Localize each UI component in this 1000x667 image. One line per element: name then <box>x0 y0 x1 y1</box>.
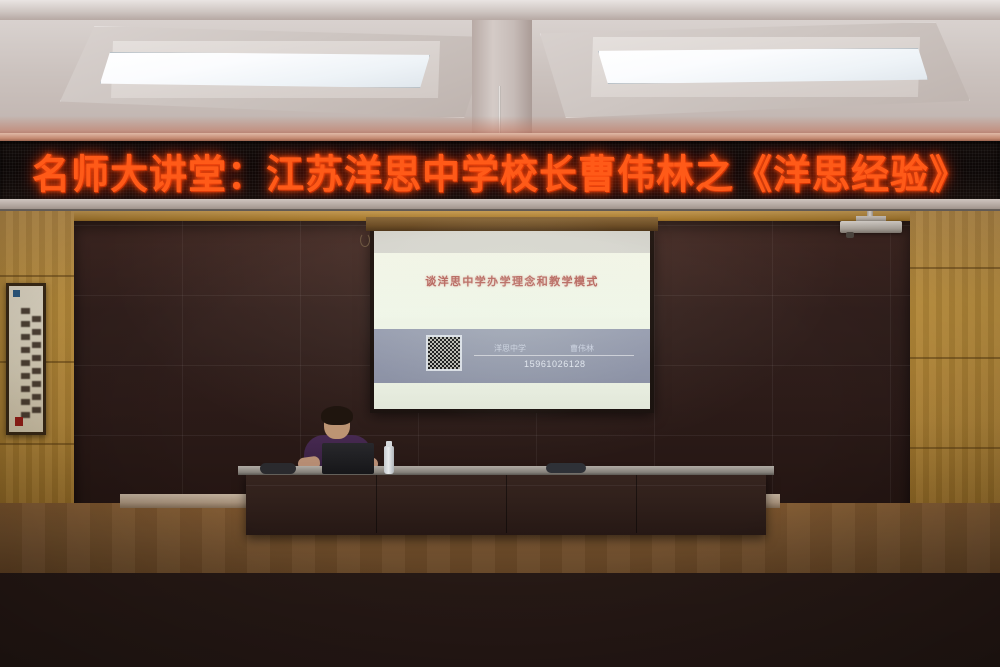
desk-top-surface <box>238 466 774 475</box>
wall-seam <box>910 267 1000 269</box>
screen-canvas: 谈洋思中学办学理念和教学模式 洋思中学 曹伟林 15961026128 <box>374 231 650 409</box>
skylight-panel-left <box>100 52 430 88</box>
auditorium-scene: 名师大讲堂：江苏洋思中学校长曹伟林之《洋思经验》 <box>0 0 1000 667</box>
wall-seam <box>910 447 1000 449</box>
led-display-board: 名师大讲堂：江苏洋思中学校长曹伟林之《洋思经验》 <box>0 141 1000 199</box>
microphone <box>546 463 586 473</box>
scroll-seal-blue <box>13 290 20 297</box>
projector-body <box>840 221 902 233</box>
led-banner-text: 名师大讲堂：江苏洋思中学校长曹伟林之《洋思经验》 <box>32 141 968 199</box>
screen-casing <box>366 217 658 231</box>
speaker-hair <box>321 406 353 425</box>
water-bottle <box>384 446 394 474</box>
screen-pull-cord <box>360 233 370 247</box>
qr-code-icon <box>426 335 462 371</box>
slide-title: 谈洋思中学办学理念和教学模式 <box>374 273 650 289</box>
wood-wall-right <box>910 211 1000 511</box>
microphone <box>260 463 296 474</box>
wall-seam <box>0 443 74 445</box>
slide-presenter-name: 曹伟林 <box>552 343 612 354</box>
slide-divider-rule <box>474 355 634 356</box>
projector-lens <box>846 232 854 238</box>
ceiling-beam-top <box>0 0 1000 20</box>
projection-screen: 谈洋思中学办学理念和教学模式 洋思中学 曹伟林 15961026128 <box>370 229 654 413</box>
wall-seam <box>0 275 74 277</box>
wall-seam <box>910 357 1000 359</box>
laptop <box>322 443 374 474</box>
slide-organization: 洋思中学 <box>474 343 546 354</box>
led-banner: 名师大讲堂：江苏洋思中学校长曹伟林之《洋思经验》 <box>0 133 1000 213</box>
scroll-seal-red <box>15 417 23 426</box>
calligraphy-scroll <box>6 283 46 435</box>
scroll-glyph-column <box>32 316 41 414</box>
projector-icon <box>840 213 902 233</box>
audience-seating <box>0 511 1000 667</box>
skylight-panel-right <box>598 48 928 84</box>
ceiling <box>0 0 1000 142</box>
slide-phone-number: 15961026128 <box>524 359 634 369</box>
hall-body: 谈洋思中学办学理念和教学模式 洋思中学 曹伟林 15961026128 <box>0 211 1000 667</box>
scroll-glyph-column <box>21 308 30 420</box>
